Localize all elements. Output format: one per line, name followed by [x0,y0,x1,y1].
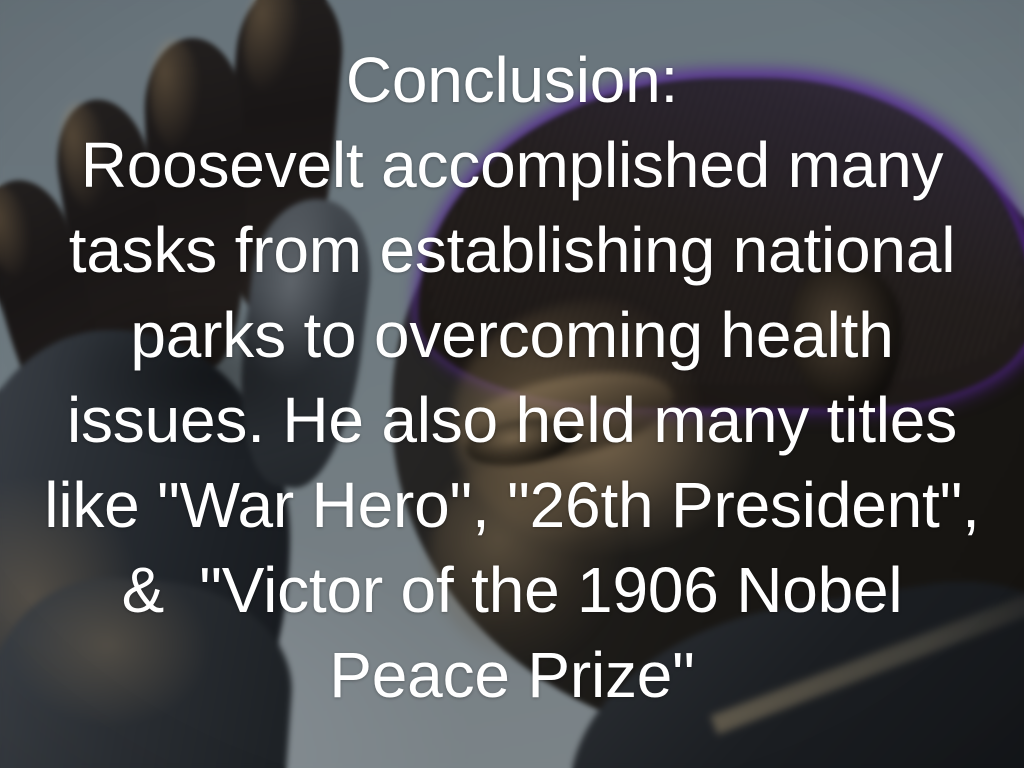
caption-line-4: parks to overcoming health [130,293,893,378]
caption-line-8: Peace Prize" [329,633,694,718]
caption-line-3: tasks from establishing national [69,208,956,293]
caption-line-5: issues. He also held many titles [67,378,957,463]
presentation-slide: Conclusion: Roosevelt accomplished many … [0,0,1024,768]
caption-line-7: & "Victor of the 1906 Nobel [122,548,903,633]
caption-line-heading: Conclusion: [346,38,678,123]
caption-line-2: Roosevelt accomplished many [81,123,944,208]
slide-caption: Conclusion: Roosevelt accomplished many … [0,0,1024,768]
caption-line-6: like "War Hero", "26th President", [44,463,979,548]
